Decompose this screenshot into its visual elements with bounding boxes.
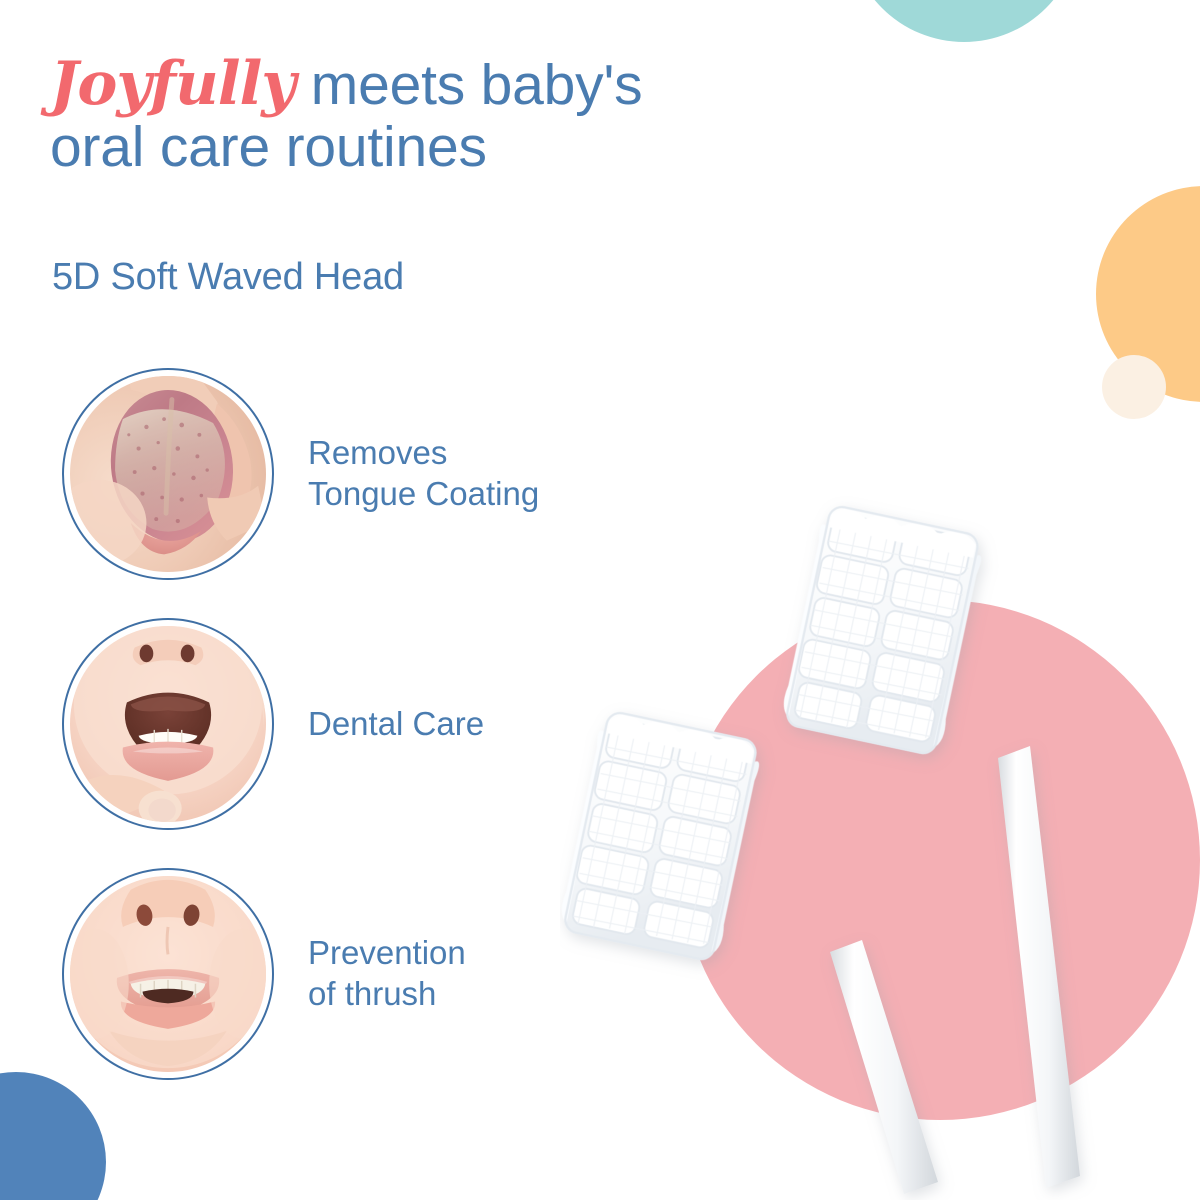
headline: Joyfully meets baby's oral care routines (50, 52, 790, 178)
feature-list: Removes Tongue Coating (62, 368, 662, 1080)
decorative-pink-circle (680, 600, 1200, 1120)
headline-line-1: Joyfully meets baby's (50, 52, 790, 117)
decorative-teal-circle (848, 0, 1080, 42)
feature-item-removes-tongue-coating: Removes Tongue Coating (62, 368, 662, 580)
baby-open-mouth-photo (70, 626, 266, 822)
decorative-orange-circle (1096, 186, 1200, 402)
feature-item-dental-care: Dental Care (62, 618, 662, 830)
decorative-blue-circle (0, 1072, 106, 1200)
feature-label-1: Removes Tongue Coating (308, 433, 539, 515)
product-poster: Joyfully meets baby's oral care routines… (0, 0, 1200, 1200)
headline-line-1-rest: meets baby's (295, 53, 642, 117)
feature-thumbnail-ring-2 (62, 618, 274, 830)
feature-label-3: Prevention of thrush (308, 933, 466, 1015)
headline-script-word: Joyfully (50, 49, 295, 119)
feature-thumbnail-ring-1 (62, 368, 274, 580)
coated-tongue-photo (70, 376, 266, 572)
headline-line-2: oral care routines (50, 117, 790, 179)
decorative-cream-circle (1102, 355, 1166, 419)
feature-thumbnail-ring-3 (62, 868, 274, 1080)
feature-item-prevention-of-thrush: Prevention of thrush (62, 868, 662, 1080)
baby-mouth-teeth-photo (70, 876, 266, 1072)
feature-label-2: Dental Care (308, 704, 484, 745)
subtitle: 5D Soft Waved Head (52, 256, 404, 299)
